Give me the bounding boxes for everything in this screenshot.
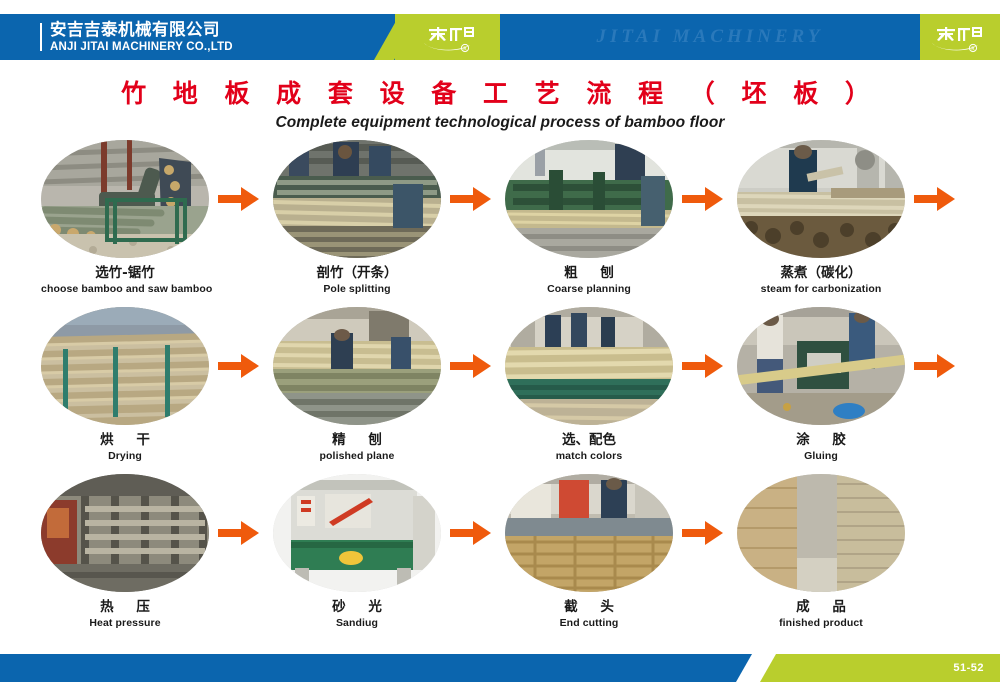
- step-caption: 涂 胶 Gluing: [737, 431, 905, 463]
- step-caption: 截 头 End cutting: [505, 598, 673, 630]
- step-caption-cn: 烘 干: [41, 431, 209, 449]
- process-row-2: 烘 干 Drying: [0, 307, 1000, 474]
- step-caption-cn: 截 头: [505, 598, 673, 616]
- flow-arrow-icon: [914, 351, 956, 381]
- step-caption-en: Heat pressure: [41, 616, 209, 630]
- step-caption-en: polished plane: [273, 449, 441, 463]
- step-caption-en: Coarse planning: [505, 282, 673, 296]
- step-caption-cn: 涂 胶: [737, 431, 905, 449]
- step-caption: 选、配色 match colors: [505, 431, 673, 463]
- page-title-en: Complete equipment technological process…: [0, 112, 1000, 134]
- process-step: 热 压 Heat pressure: [41, 474, 209, 641]
- gluing-photo: [737, 307, 905, 425]
- step-caption: 选竹-锯竹 choose bamboo and saw bamboo: [41, 264, 209, 296]
- pole-splitting-photo: [273, 140, 441, 258]
- process-row-3: 热 压 Heat pressure: [0, 474, 1000, 641]
- flow-arrow-icon: [218, 518, 260, 548]
- step-caption-cn: 成 品: [737, 598, 905, 616]
- flow-arrow-icon: [450, 518, 492, 548]
- flow-arrow-icon: [218, 184, 260, 214]
- jitai-logo-icon: R: [420, 21, 482, 55]
- polished-plane-photo: [273, 307, 441, 425]
- process-step: 剖竹（开条） Pole splitting: [273, 140, 441, 307]
- process-step: 烘 干 Drying: [41, 307, 209, 474]
- heat-pressure-photo: [41, 474, 209, 592]
- process-step: 涂 胶 Gluing: [737, 307, 905, 474]
- step-caption: 剖竹（开条） Pole splitting: [273, 264, 441, 296]
- finished-product-photo: [737, 474, 905, 592]
- step-caption-cn: 蒸煮（碳化）: [737, 264, 905, 282]
- page-number: 51-52: [953, 654, 984, 682]
- step-caption: 粗 刨 Coarse planning: [505, 264, 673, 296]
- flow-arrow-icon: [450, 184, 492, 214]
- match-colors-photo: [505, 307, 673, 425]
- flow-arrow-icon: [682, 184, 724, 214]
- step-caption-en: Gluing: [737, 449, 905, 463]
- header-watermark-text: JITAI MACHINERY: [500, 14, 920, 60]
- step-caption-en: choose bamboo and saw bamboo: [41, 282, 209, 296]
- step-caption-cn: 选竹-锯竹: [41, 264, 209, 282]
- jitai-logo-icon-right: R: [928, 21, 990, 55]
- step-caption-en: Drying: [41, 449, 209, 463]
- flow-arrow-icon: [914, 184, 956, 214]
- sanding-photo: [273, 474, 441, 592]
- step-caption-cn: 砂 光: [273, 598, 441, 616]
- process-flow: 选竹-锯竹 choose bamboo and saw bamboo: [0, 140, 1000, 641]
- flow-arrow-icon: [682, 518, 724, 548]
- step-caption: 烘 干 Drying: [41, 431, 209, 463]
- page-title-cn: 竹 地 板 成 套 设 备 工 艺 流 程 （ 坯 板 ）: [0, 78, 1000, 110]
- step-caption-cn: 粗 刨: [505, 264, 673, 282]
- process-step: 选、配色 match colors: [505, 307, 673, 474]
- flow-arrow-icon: [218, 351, 260, 381]
- svg-text:R: R: [971, 47, 975, 53]
- step-caption: 热 压 Heat pressure: [41, 598, 209, 630]
- process-step: 砂 光 Sandiug: [273, 474, 441, 641]
- coarse-planning-photo: [505, 140, 673, 258]
- process-step: 选竹-锯竹 choose bamboo and saw bamboo: [41, 140, 209, 307]
- step-caption: 蒸煮（碳化） steam for carbonization: [737, 264, 905, 296]
- company-name-en: ANJI JITAI MACHINERY CO.,LTD: [50, 40, 233, 55]
- page-title-block: 竹 地 板 成 套 设 备 工 艺 流 程 （ 坯 板 ） Complete e…: [0, 78, 1000, 134]
- saw-bamboo-photo: [41, 140, 209, 258]
- end-cutting-photo: [505, 474, 673, 592]
- process-step: 粗 刨 Coarse planning: [505, 140, 673, 307]
- step-caption-cn: 选、配色: [505, 431, 673, 449]
- step-caption-cn: 剖竹（开条）: [273, 264, 441, 282]
- step-caption-en: End cutting: [505, 616, 673, 630]
- step-caption-cn: 精 刨: [273, 431, 441, 449]
- company-identity: 安吉吉泰机械有限公司 ANJI JITAI MACHINERY CO.,LTD: [50, 20, 233, 55]
- brochure-page: 安吉吉泰机械有限公司 ANJI JITAI MACHINERY CO.,LTD …: [0, 0, 1000, 682]
- page-header: 安吉吉泰机械有限公司 ANJI JITAI MACHINERY CO.,LTD …: [0, 14, 1000, 60]
- step-caption-en: Sandiug: [273, 616, 441, 630]
- step-caption-cn: 热 压: [41, 598, 209, 616]
- step-caption-en: finished product: [737, 616, 905, 630]
- process-row-1: 选竹-锯竹 choose bamboo and saw bamboo: [0, 140, 1000, 307]
- step-caption: 精 刨 polished plane: [273, 431, 441, 463]
- step-caption: 成 品 finished product: [737, 598, 905, 630]
- process-step: 成 品 finished product: [737, 474, 905, 641]
- drying-photo: [41, 307, 209, 425]
- process-step: 精 刨 polished plane: [273, 307, 441, 474]
- company-name-cn: 安吉吉泰机械有限公司: [50, 20, 233, 40]
- process-step: 蒸煮（碳化） steam for carbonization: [737, 140, 905, 307]
- step-caption-en: match colors: [505, 449, 673, 463]
- flow-arrow-icon: [682, 351, 724, 381]
- process-step: 截 头 End cutting: [505, 474, 673, 641]
- page-footer: 51-52: [0, 654, 1000, 682]
- svg-text:R: R: [463, 47, 467, 53]
- footer-blue-band: [0, 654, 760, 682]
- carbonization-photo: [737, 140, 905, 258]
- step-caption-en: steam for carbonization: [737, 282, 905, 296]
- header-divider: [40, 23, 42, 51]
- step-caption-en: Pole splitting: [273, 282, 441, 296]
- flow-arrow-icon: [450, 351, 492, 381]
- step-caption: 砂 光 Sandiug: [273, 598, 441, 630]
